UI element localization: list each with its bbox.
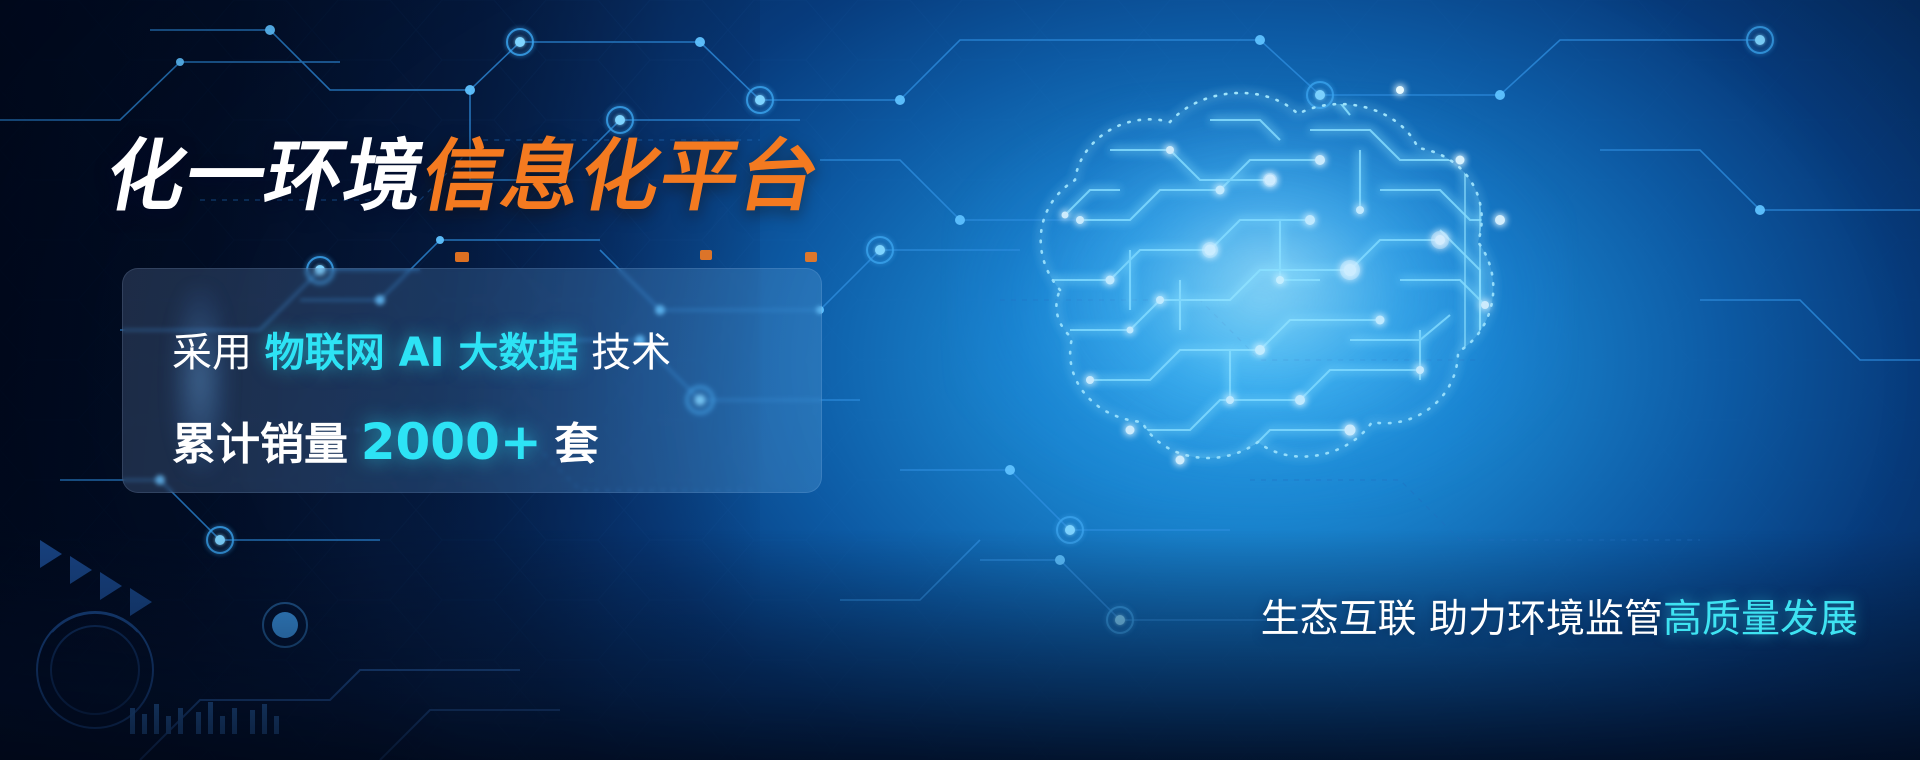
info-line-technology: 采用 物联网 AI 大数据 技术 — [172, 320, 671, 378]
tagline-white-part: 生态互联 助力环境监管 — [1261, 597, 1663, 642]
info-line-sales: 累计销量 2000+ 套 — [172, 408, 599, 472]
page-title: 化一环境信息化平台 — [100, 138, 826, 216]
title-white-part: 化一环境 — [99, 132, 433, 222]
sales-prefix: 累计销量 — [172, 419, 348, 470]
info-panel: 采用 物联网 AI 大数据 技术 累计销量 2000+ 套 — [122, 268, 822, 493]
sales-suffix: 套 — [555, 419, 599, 470]
tagline: 生态互联 助力环境监管高质量发展 — [1261, 588, 1858, 644]
tech-highlight: 物联网 AI 大数据 — [265, 330, 579, 376]
title-orange-part: 信息化平台 — [415, 132, 828, 222]
banner-root: 化一环境信息化平台 采用 物联网 AI 大数据 技术 累计销量 2000+ 套 … — [0, 0, 1920, 760]
tagline-cyan-part: 高质量发展 — [1663, 597, 1858, 642]
sales-count: 2000+ — [361, 413, 542, 471]
tech-suffix: 技术 — [591, 330, 671, 376]
background-bottom-fade — [0, 530, 1920, 760]
tech-prefix: 采用 — [172, 330, 252, 376]
